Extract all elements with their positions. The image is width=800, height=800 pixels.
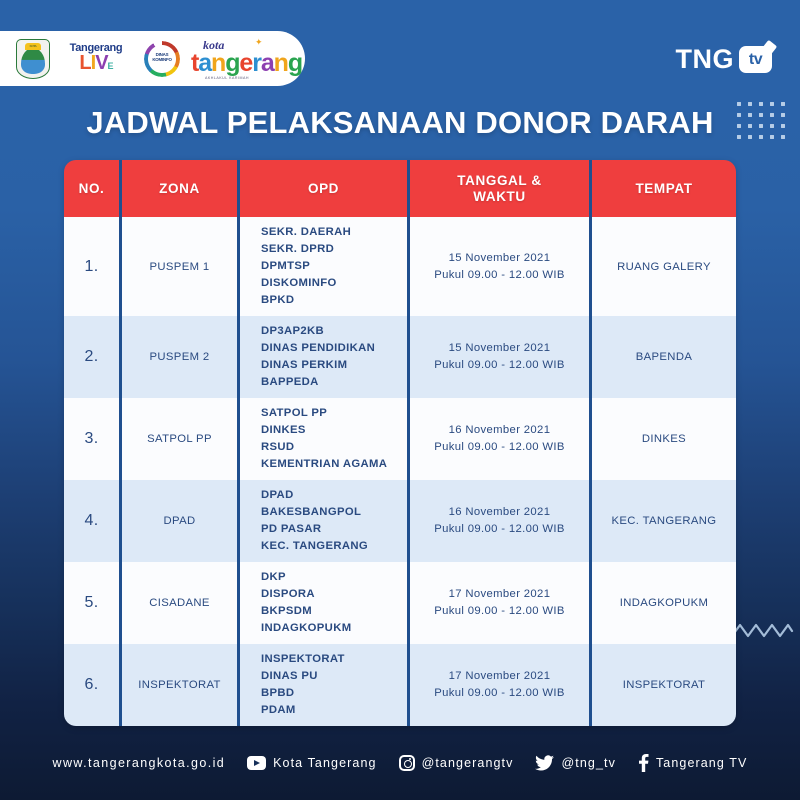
cell-tempat: INSPEKTORAT [592,644,736,726]
row-zona: PUSPEM 1 [150,261,210,273]
footer-youtube-label: Kota Tangerang [273,756,376,770]
cell-no: 3. [64,398,122,480]
column-header-tanggal-line1: TANGGAL & [457,173,541,189]
cell-tanggal-waktu: 15 November 2021Pukul 09.00 - 12.00 WIB [410,217,592,316]
cell-tanggal-waktu: 17 November 2021Pukul 09.00 - 12.00 WIB [410,562,592,644]
row-opd-item: DISKOMINFO [261,275,351,292]
facebook-icon [638,754,649,772]
row-opd-item: INDAGKOPUKM [261,620,351,637]
twitter-icon [535,755,554,771]
table-row: 6.INSPEKTORATINSPEKTORATDINAS PUBPBDPDAM… [64,644,736,726]
cell-zona: DPAD [122,480,240,562]
table-body: 1.PUSPEM 1SEKR. DAERAHSEKR. DPRDDPMTSPDI… [64,217,736,726]
row-opd-item: DPAD [261,487,368,504]
table-header-row: NO. ZONA OPD TANGGAL & WAKTU TEMPAT [64,160,736,217]
row-opd-list: DP3AP2KBDINAS PENDIDIKANDINAS PERKIMBAPP… [261,323,375,391]
row-opd-item: DP3AP2KB [261,323,375,340]
row-opd-list: SATPOL PPDINKESRSUDKEMENTRIAN AGAMA [261,405,387,473]
column-header-opd: OPD [240,160,410,217]
cell-no: 6. [64,644,122,726]
footer-youtube[interactable]: Kota Tangerang [247,756,376,770]
row-opd-item: BAKESBANGPOL [261,504,368,521]
row-tanggal: 15 November 2021 [434,250,565,267]
diskominfo-logo-icon: DINAS KOMINFO [142,39,182,79]
cell-no: 2. [64,316,122,398]
cell-no: 4. [64,480,122,562]
footer-twitter-label: @tng_tv [561,756,615,770]
cell-no: 1. [64,217,122,316]
row-waktu: Pukul 09.00 - 12.00 WIB [434,603,565,620]
row-number: 1. [84,258,98,276]
cell-zona: CISADANE [122,562,240,644]
footer-website-label: www.tangerangkota.go.id [53,756,226,770]
cell-tanggal-waktu: 17 November 2021Pukul 09.00 - 12.00 WIB [410,644,592,726]
row-datetime: 16 November 2021Pukul 09.00 - 12.00 WIB [434,504,565,538]
row-tanggal: 16 November 2021 [434,422,565,439]
row-datetime: 17 November 2021Pukul 09.00 - 12.00 WIB [434,586,565,620]
row-waktu: Pukul 09.00 - 12.00 WIB [434,521,565,538]
row-tempat: INSPEKTORAT [623,679,706,691]
cell-opd: INSPEKTORATDINAS PUBPBDPDAM [240,644,410,726]
cell-tempat: BAPENDA [592,316,736,398]
row-opd-item: PD PASAR [261,521,368,538]
cell-opd: DKPDISPORABKPSDMINDAGKOPUKM [240,562,410,644]
row-tanggal: 17 November 2021 [434,586,565,603]
row-opd-item: BKPSDM [261,603,351,620]
cell-opd: SATPOL PPDINKESRSUDKEMENTRIAN AGAMA [240,398,410,480]
cell-opd: SEKR. DAERAHSEKR. DPRDDPMTSPDISKOMINFOBP… [240,217,410,316]
row-opd-item: RSUD [261,439,387,456]
cell-tempat: KEC. TANGERANG [592,480,736,562]
cell-zona: INSPEKTORAT [122,644,240,726]
table-row: 4.DPADDPADBAKESBANGPOLPD PASARKEC. TANGE… [64,480,736,562]
row-tanggal: 15 November 2021 [434,340,565,357]
cell-opd: DP3AP2KBDINAS PENDIDIKANDINAS PERKIMBAPP… [240,316,410,398]
row-tempat: BAPENDA [636,351,692,363]
cell-tanggal-waktu: 16 November 2021Pukul 09.00 - 12.00 WIB [410,480,592,562]
row-opd-item: DINAS PERKIM [261,357,375,374]
row-opd-item: BPKD [261,292,351,309]
row-opd-item: PDAM [261,702,345,719]
cell-zona: PUSPEM 2 [122,316,240,398]
cell-tempat: INDAGKOPUKM [592,562,736,644]
tngtv-logo: TNG tv [676,46,773,73]
table-row: 5.CISADANEDKPDISPORABKPSDMINDAGKOPUKM17 … [64,562,736,644]
sparkle-icon: ✦ [255,37,263,48]
row-tempat: INDAGKOPUKM [620,597,709,609]
cell-opd: DPADBAKESBANGPOLPD PASARKEC. TANGERANG [240,480,410,562]
row-zona: CISADANE [149,597,210,609]
row-datetime: 16 November 2021Pukul 09.00 - 12.00 WIB [434,422,565,456]
footer-instagram[interactable]: @tangerangtv [399,755,514,771]
row-opd-list: DKPDISPORABKPSDMINDAGKOPUKM [261,569,351,637]
crest-caption: KOTA TANGERANG [25,43,41,50]
row-zona: INSPEKTORAT [138,679,221,691]
row-tempat: RUANG GALERY [617,261,711,273]
poster-canvas: KOTA TANGERANG Tangerang LIVE DINAS KOMI… [0,0,800,800]
cell-tanggal-waktu: 16 November 2021Pukul 09.00 - 12.00 WIB [410,398,592,480]
row-waktu: Pukul 09.00 - 12.00 WIB [434,357,565,374]
cell-tempat: DINKES [592,398,736,480]
row-opd-item: KEMENTRIAN AGAMA [261,456,387,473]
row-opd-item: DINAS PENDIDIKAN [261,340,375,357]
column-header-zona: ZONA [122,160,240,217]
row-zona: PUSPEM 2 [150,351,210,363]
row-opd-item: DINKES [261,422,387,439]
row-opd-item: BAPPEDA [261,374,375,391]
row-opd-item: SEKR. DPRD [261,241,351,258]
row-opd-item: INSPEKTORAT [261,651,345,668]
row-waktu: Pukul 09.00 - 12.00 WIB [434,685,565,702]
row-waktu: Pukul 09.00 - 12.00 WIB [434,267,565,284]
kota-tangerang-logo: ✦ kota tangerang AKHLAKUL KARIMAH [191,38,302,80]
footer-instagram-label: @tangerangtv [422,756,514,770]
row-datetime: 15 November 2021Pukul 09.00 - 12.00 WIB [434,250,565,284]
tngtv-text: TNG [676,46,735,73]
row-waktu: Pukul 09.00 - 12.00 WIB [434,439,565,456]
row-datetime: 17 November 2021Pukul 09.00 - 12.00 WIB [434,668,565,702]
row-opd-item: DKP [261,569,351,586]
row-tempat: KEC. TANGERANG [612,515,717,527]
tangerang-live-logo: Tangerang LIVE [59,42,133,76]
footer-twitter[interactable]: @tng_tv [535,755,615,771]
tv-badge-text: tv [749,52,762,68]
youtube-icon [247,756,266,770]
footer-website[interactable]: www.tangerangkota.go.id [53,756,226,770]
row-opd-item: DPMTSP [261,258,351,275]
tv-badge-icon: tv [739,46,772,73]
page-title: JADWAL PELAKSANAAN DONOR DARAH [0,105,800,141]
cell-zona: PUSPEM 1 [122,217,240,316]
table-row: 2.PUSPEM 2DP3AP2KBDINAS PENDIDIKANDINAS … [64,316,736,398]
row-zona: DPAD [164,515,196,527]
row-opd-item: DINAS PU [261,668,345,685]
schedule-table: NO. ZONA OPD TANGGAL & WAKTU TEMPAT 1.PU… [64,160,736,726]
column-header-no: NO. [64,160,122,217]
cell-zona: SATPOL PP [122,398,240,480]
row-datetime: 15 November 2021Pukul 09.00 - 12.00 WIB [434,340,565,374]
row-tempat: DINKES [642,433,686,445]
column-header-tanggal-waktu: TANGGAL & WAKTU [410,160,592,217]
instagram-icon [399,755,415,771]
row-opd-list: DPADBAKESBANGPOLPD PASARKEC. TANGERANG [261,487,368,555]
row-opd-item: DISPORA [261,586,351,603]
column-header-tanggal-line2: WAKTU [457,189,541,205]
row-opd-item: KEC. TANGERANG [261,538,368,555]
tangerang-live-word: LIVE [59,54,133,76]
row-opd-list: INSPEKTORATDINAS PUBPBDPDAM [261,651,345,719]
row-opd-item: SATPOL PP [261,405,387,422]
zigzag-decoration [730,620,794,640]
cell-no: 5. [64,562,122,644]
table-row: 3.SATPOL PPSATPOL PPDINKESRSUDKEMENTRIAN… [64,398,736,480]
row-number: 2. [84,348,98,366]
diskominfo-label: DINAS KOMINFO [148,52,176,63]
row-number: 6. [84,676,98,694]
row-opd-item: BPBD [261,685,345,702]
footer-facebook[interactable]: Tangerang TV [638,754,748,772]
cell-tanggal-waktu: 15 November 2021Pukul 09.00 - 12.00 WIB [410,316,592,398]
cell-tempat: RUANG GALERY [592,217,736,316]
row-tanggal: 17 November 2021 [434,668,565,685]
row-tanggal: 16 November 2021 [434,504,565,521]
row-number: 5. [84,594,98,612]
row-opd-list: SEKR. DAERAHSEKR. DPRDDPMTSPDISKOMINFOBP… [261,224,351,309]
tangerang-city-crest-icon: KOTA TANGERANG [16,39,50,79]
footer-bar: www.tangerangkota.go.id Kota Tangerang @… [0,754,800,772]
row-opd-item: SEKR. DAERAH [261,224,351,241]
footer-facebook-label: Tangerang TV [656,756,748,770]
row-zona: SATPOL PP [147,433,212,445]
row-number: 3. [84,430,98,448]
tangerang-word: tangerang [191,51,302,75]
logo-pill: KOTA TANGERANG Tangerang LIVE DINAS KOMI… [0,31,305,86]
table-row: 1.PUSPEM 1SEKR. DAERAHSEKR. DPRDDPMTSPDI… [64,217,736,316]
row-number: 4. [84,512,98,530]
column-header-tempat: TEMPAT [592,160,736,217]
